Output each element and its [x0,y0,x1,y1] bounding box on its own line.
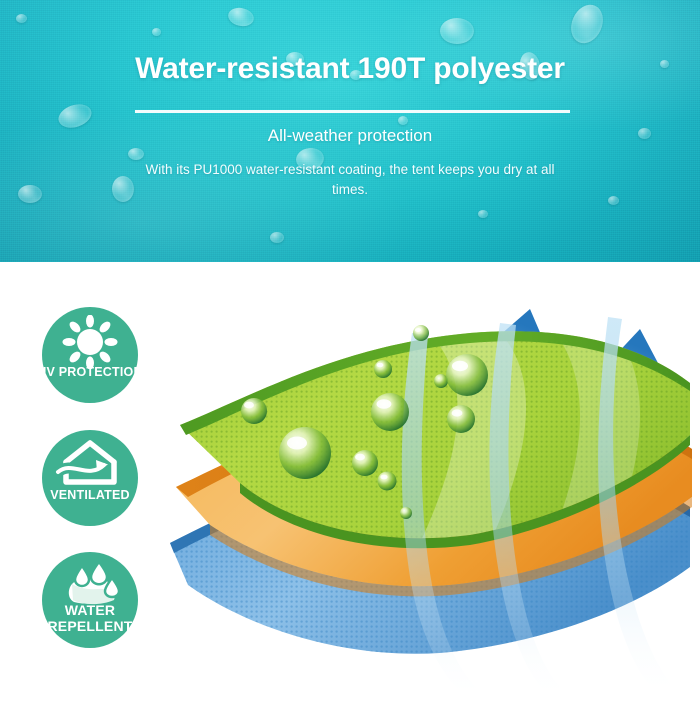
water-droplet [434,374,448,388]
badge-label: WATER REPELLENT [20,602,160,634]
page-title: Water-resistant 190T polyester [0,52,700,86]
fabric-layers-diagram [170,285,700,700]
badge-water-repellent: WATER REPELLENT [42,552,138,648]
water-droplet [413,325,429,341]
water-droplet [241,398,267,424]
title-divider [135,110,570,113]
water-droplet [18,185,42,203]
water-droplet [398,116,408,125]
house-airflow-icon [42,438,138,492]
badge-label: VENTILATED [20,488,160,502]
feature-badge-list: UV PROTECTION VENTILATED WATER REPELLE [0,262,175,700]
banner-description: With its PU1000 water-resistant coating,… [130,160,570,200]
hero-banner: Water-resistant 190T polyester All-weath… [0,0,700,262]
banner-subtitle: All-weather protection [0,126,700,146]
water-droplet [447,405,475,433]
water-droplet [128,148,144,160]
badge-label: UV PROTECTION [20,365,160,379]
water-droplet [608,196,619,205]
water-droplet [152,28,161,36]
water-droplet [378,472,397,491]
badge-ventilated: VENTILATED [42,430,138,526]
water-droplet [440,18,474,44]
badge-uv-protection: UV PROTECTION [42,307,138,403]
water-droplet [279,427,331,479]
water-droplet [352,450,378,476]
badge-label-line1: WATER [65,602,116,618]
water-droplet [270,232,284,243]
badge-label-line2: REPELLENT [47,618,132,634]
water-droplet [16,14,27,23]
sun-icon [42,315,138,369]
water-droplet [478,210,488,218]
water-droplet [400,507,412,519]
water-droplet [374,360,392,378]
water-droplet [446,354,488,396]
water-droplet [371,393,409,431]
